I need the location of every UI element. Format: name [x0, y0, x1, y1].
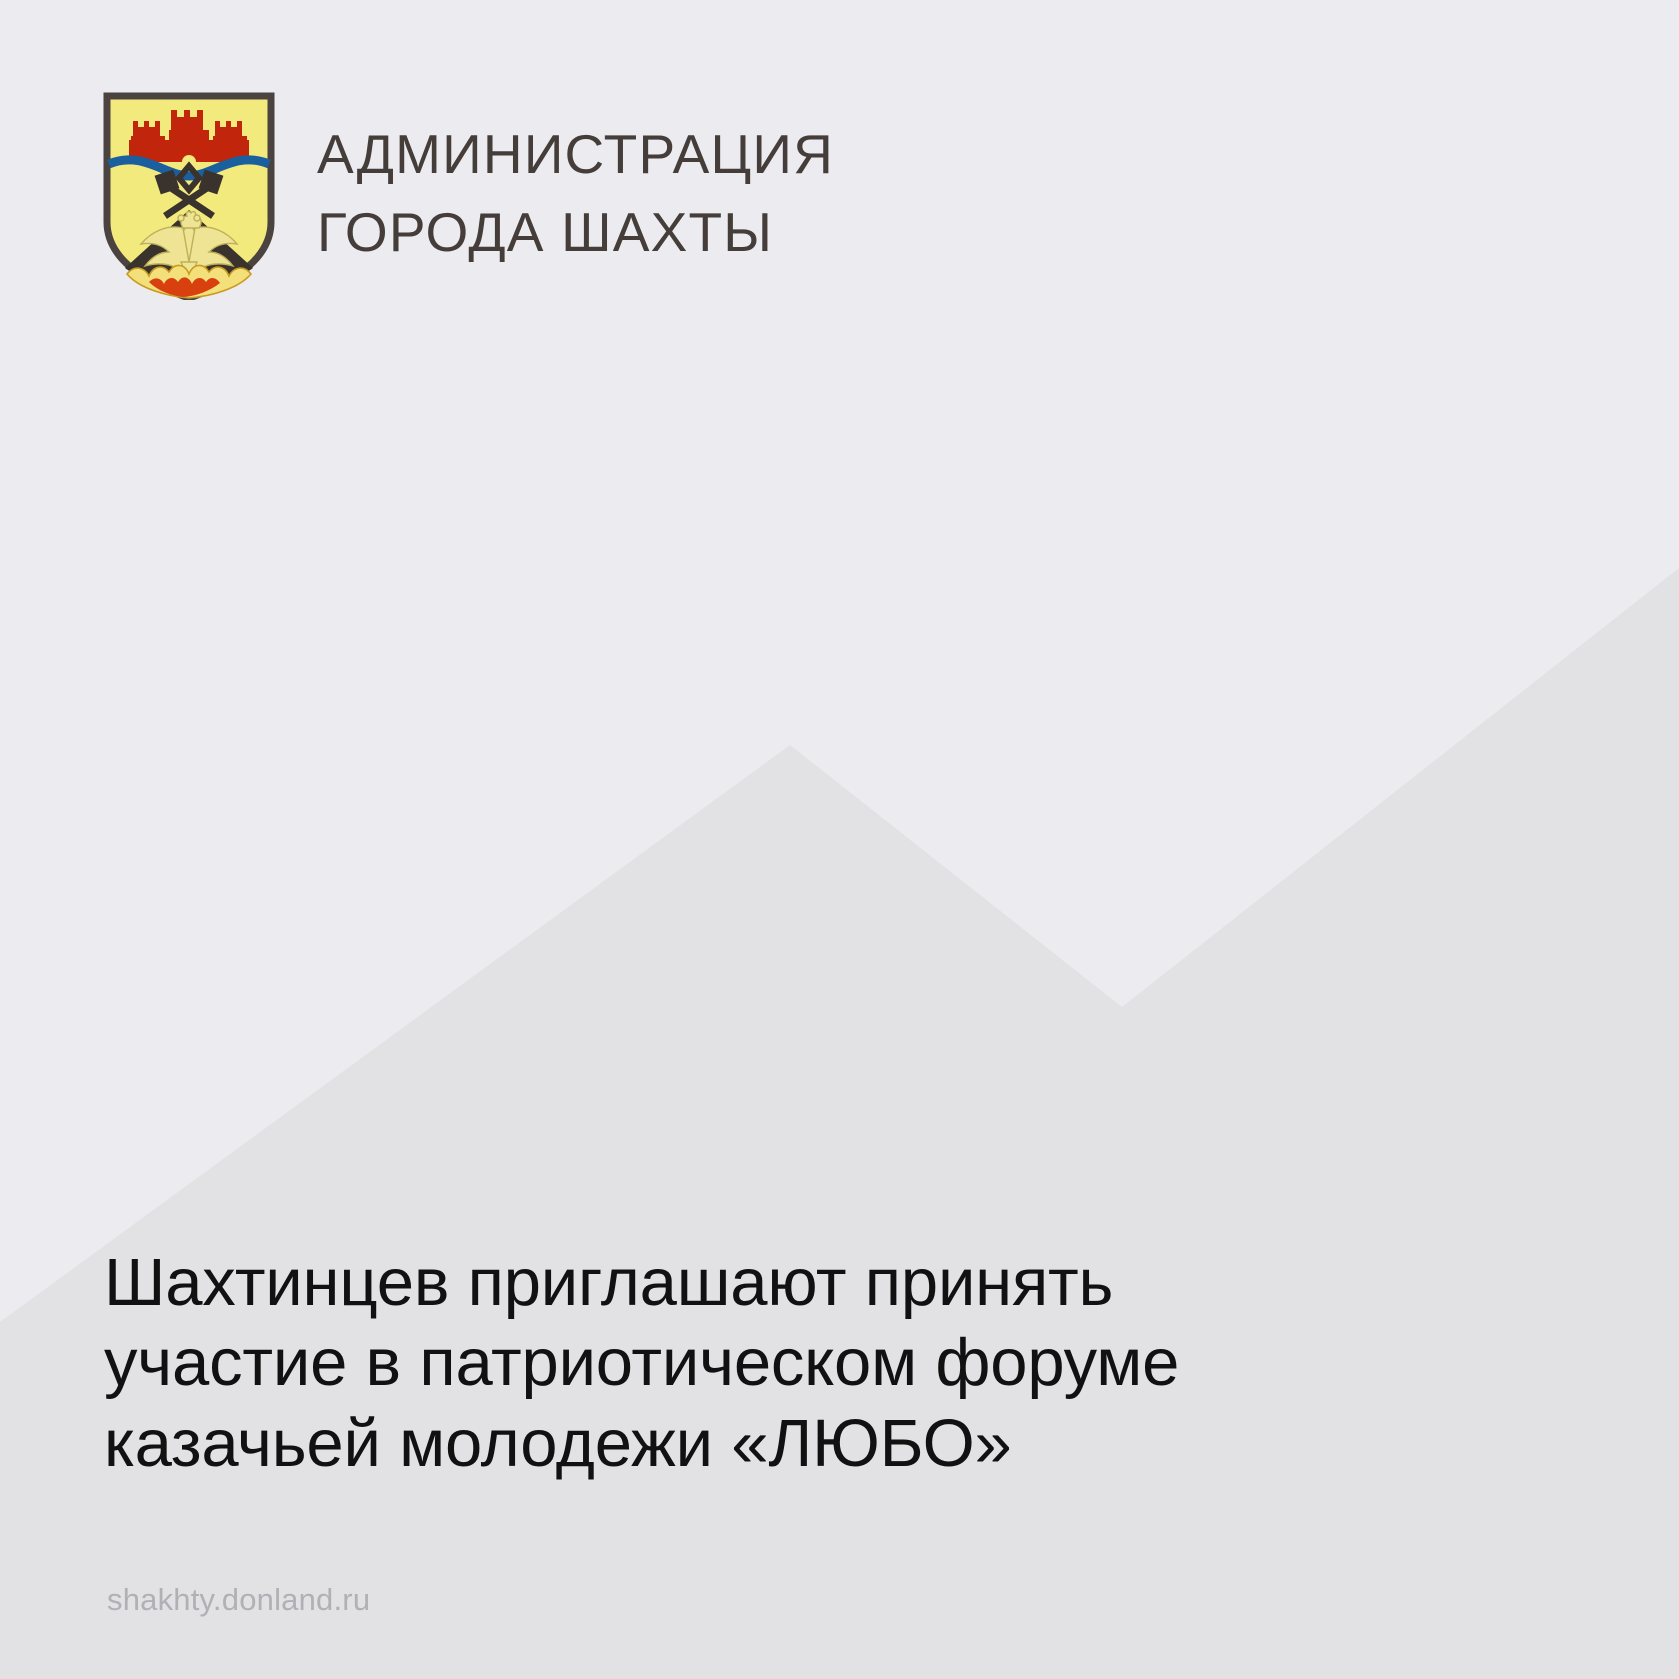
mountain-shape — [0, 568, 1679, 1679]
site-url-label: shakhty.donland.ru — [107, 1584, 370, 1615]
brand-title-line-1: АДМИНИСТРАЦИЯ — [317, 115, 834, 193]
news-card: АДМИНИСТРАЦИЯ ГОРОДА ШАХТЫ Шахтинцев при… — [0, 0, 1679, 1679]
brand-title: АДМИНИСТРАЦИЯ ГОРОДА ШАХТЫ — [317, 92, 834, 271]
shakhty-coat-of-arms-icon — [103, 92, 275, 300]
crest-tower-left-body — [131, 136, 165, 152]
brand-lockup: АДМИНИСТРАЦИЯ ГОРОДА ШАХТЫ — [103, 92, 834, 300]
page-title: Шахтинцев приглашают принять участие в п… — [104, 1243, 1504, 1484]
page-title-line-2: участие в патриотическом форуме — [104, 1323, 1504, 1403]
crest-tower-center-body — [169, 130, 209, 152]
crest-tower-right-body — [213, 136, 247, 152]
page-title-line-3: казачьей молодежи «ЛЮБО» — [104, 1404, 1504, 1484]
crest-tower-center-crenels — [171, 110, 203, 132]
crest-tower-left-crenels — [133, 121, 160, 138]
brand-title-line-2: ГОРОДА ШАХТЫ — [317, 193, 834, 271]
page-title-line-1: Шахтинцев приглашают принять — [104, 1243, 1504, 1323]
crest-tower-right-crenels — [215, 121, 242, 138]
